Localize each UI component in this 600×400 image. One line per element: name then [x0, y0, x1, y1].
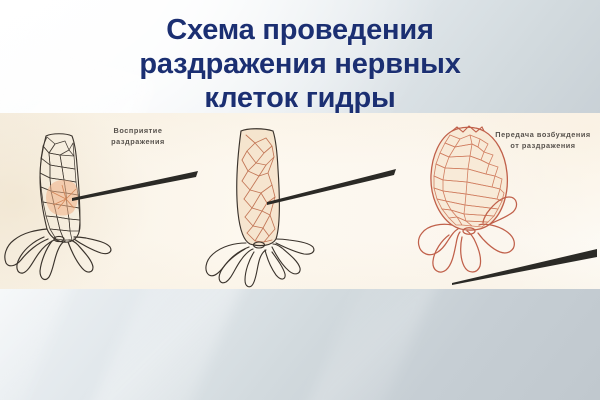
figure-strip: Восприятие раздражения [0, 113, 600, 289]
slide-title-line-3: клеток гидры [0, 82, 600, 116]
panel-1-caption-line-2: раздражения [88, 136, 188, 147]
slide-lower-empty-area [0, 289, 600, 400]
needle-2 [267, 169, 396, 205]
panel-1-caption-line-1: Восприятие [88, 125, 188, 136]
slide-title-line-1: Схема проведения [0, 14, 600, 48]
diagram-panel-transmission: Передача возбуждения от раздражения [200, 113, 400, 289]
hydra-diagram-3 [400, 113, 600, 289]
hydra-tentacles-1 [5, 229, 111, 279]
slide-title: Схема проведения раздражения нервных кле… [0, 14, 600, 116]
diagram-panel-response: Ответ организма на раздражение [400, 113, 600, 289]
needle-1 [72, 171, 198, 201]
needle-3 [452, 249, 597, 285]
slide-canvas: Схема проведения раздражения нервных кле… [0, 0, 600, 400]
diagram-panel-perception: Восприятие раздражения [0, 113, 200, 289]
panel-1-caption: Восприятие раздражения [88, 125, 188, 148]
slide-title-line-2: раздражения нервных [0, 48, 600, 82]
hydra-diagram-2 [200, 113, 400, 289]
